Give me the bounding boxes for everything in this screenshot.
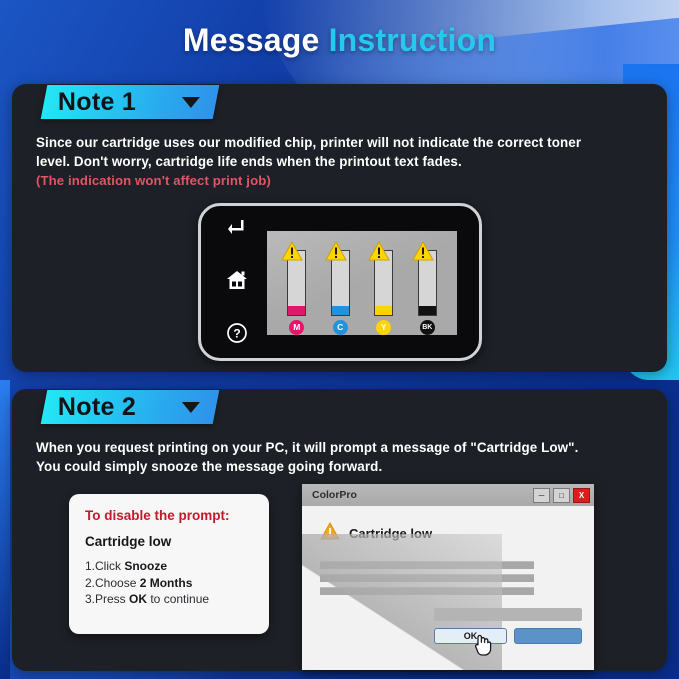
printer-icon-column: ? <box>217 218 257 344</box>
dialog-gray-field <box>434 608 582 621</box>
toner-color-badge: M <box>289 320 304 335</box>
window-controls: ─ □ X <box>533 488 590 503</box>
toner-fill <box>288 306 305 315</box>
toner-fill <box>375 306 392 315</box>
note-1-red-note: (The indication won't affect print job) <box>36 171 666 190</box>
note-1-line-1: Since our cartridge uses our modified ch… <box>36 133 666 152</box>
help-icon[interactable]: ? <box>226 322 248 344</box>
page-title-primary: Message <box>183 22 329 58</box>
warning-triangle-icon <box>325 241 347 261</box>
toner-yellow: Y <box>369 237 399 335</box>
dialog-button-row: OK <box>434 628 582 644</box>
warning-triangle-icon <box>368 241 390 261</box>
note-1-body: Since our cartridge uses our modified ch… <box>36 133 666 190</box>
note-2-line-1: When you request printing on your PC, it… <box>36 438 666 457</box>
note-1-tab-label: Note 1 <box>58 88 136 117</box>
printer-display: ? MCYBK <box>198 203 482 361</box>
warning-triangle-icon <box>281 241 303 261</box>
svg-text:?: ? <box>233 327 240 341</box>
toner-tube <box>287 250 306 316</box>
instruction-card-heading: To disable the prompt: <box>85 508 253 523</box>
toner-tube <box>331 250 350 316</box>
instruction-card: To disable the prompt: Cartridge low 1.C… <box>69 494 269 634</box>
note-2-tab-label: Note 2 <box>58 393 136 422</box>
toner-tube <box>374 250 393 316</box>
decorative-left-edge <box>0 380 10 679</box>
cartridge-low-dialog: ColorPro ─ □ X Cartridge low <box>302 484 594 670</box>
secondary-blue-button[interactable] <box>514 628 582 644</box>
toner-black: BK <box>412 237 442 335</box>
maximize-icon[interactable]: □ <box>553 488 570 503</box>
instruction-step-list: 1.Click Snooze2.Choose 2 Months3.Press O… <box>85 558 253 608</box>
back-arrow-icon[interactable] <box>226 218 248 238</box>
toner-level-bars: MCYBK <box>267 231 457 335</box>
instruction-card-subheading: Cartridge low <box>85 534 253 549</box>
dialog-titlebar: ColorPro ─ □ X <box>302 484 594 506</box>
page-title: Message Instruction <box>0 22 679 59</box>
home-icon[interactable] <box>225 269 249 291</box>
toner-color-badge: BK <box>420 320 435 335</box>
diagonal-overlay <box>302 534 502 670</box>
note-2-tab[interactable]: Note 2 <box>41 390 220 424</box>
note-2-body: When you request printing on your PC, it… <box>36 438 666 476</box>
page-title-accent: Instruction <box>329 22 497 58</box>
warning-triangle-icon <box>412 241 434 261</box>
note-2-line-2: You could simply snooze the message goin… <box>36 457 666 476</box>
printer-screen: MCYBK <box>267 231 457 335</box>
toner-fill <box>332 306 349 315</box>
toner-color-badge: C <box>333 320 348 335</box>
dialog-title: ColorPro <box>312 489 357 501</box>
toner-magenta: M <box>282 237 312 335</box>
note-1-line-2: level. Don't worry, cartridge life ends … <box>36 152 666 171</box>
chevron-down-icon <box>182 97 200 108</box>
instruction-step: 2.Choose 2 Months <box>85 575 253 592</box>
minimize-icon[interactable]: ─ <box>533 488 550 503</box>
hand-pointer-cursor <box>473 633 493 657</box>
close-icon[interactable]: X <box>573 488 590 503</box>
dialog-button-area: OK <box>434 608 582 644</box>
toner-cyan: C <box>325 237 355 335</box>
note-1-tab[interactable]: Note 1 <box>41 85 220 119</box>
instruction-step: 1.Click Snooze <box>85 558 253 575</box>
infographic-page: Message Instruction Note 1 Since our car… <box>0 0 679 679</box>
toner-tube <box>418 250 437 316</box>
instruction-step: 3.Press OK to continue <box>85 591 253 608</box>
toner-fill <box>419 306 436 315</box>
chevron-down-icon <box>182 402 200 413</box>
ok-button[interactable]: OK <box>434 628 507 644</box>
toner-color-badge: Y <box>376 320 391 335</box>
dialog-body: Cartridge low OK <box>302 506 594 670</box>
